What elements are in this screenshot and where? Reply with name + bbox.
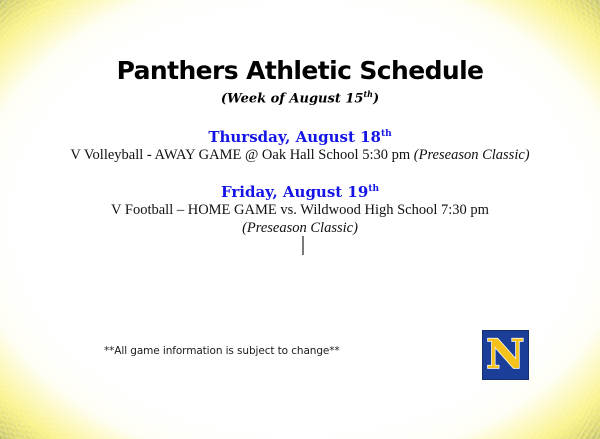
athletic-schedule-flyer: Panthers Athletic Schedule (Week of Augu… (0, 0, 600, 439)
school-crest-logo: N (482, 330, 529, 380)
event-date-text: Friday, August 19 (221, 183, 368, 201)
event-detail-thursday: V Volleyball - AWAY GAME @ Oak Hall Scho… (0, 146, 600, 164)
event-date-heading-friday: Friday, August 19th (0, 183, 600, 201)
disclaimer-note: **All game information is subject to cha… (104, 345, 340, 357)
event-detail-note: (Preseason Classic) (414, 147, 530, 163)
event-date-ordinal: th (381, 129, 392, 139)
event-date-text: Thursday, August 18 (208, 128, 381, 146)
week-subtitle: (Week of August 15th) (0, 89, 600, 106)
page-title: Panthers Athletic Schedule (0, 56, 600, 85)
event-date-ordinal: th (368, 184, 379, 194)
event-detail-friday: V Football – HOME GAME vs. Wildwood High… (0, 201, 600, 219)
event-detail-main: V Volleyball - AWAY GAME @ Oak Hall Scho… (70, 147, 413, 163)
logo-letter-n: N (486, 337, 524, 373)
event-block-friday: Friday, August 19th V Football – HOME GA… (0, 183, 600, 237)
text-cursor-caret (302, 236, 304, 255)
flyer-content: Panthers Athletic Schedule (Week of Augu… (0, 0, 600, 439)
week-subtitle-ordinal: th (363, 89, 373, 99)
event-date-heading-thursday: Thursday, August 18th (0, 128, 600, 146)
week-subtitle-suffix: ) (373, 91, 379, 106)
event-block-thursday: Thursday, August 18th V Volleyball - AWA… (0, 128, 600, 164)
event-detail-main: V Football – HOME GAME vs. Wildwood High… (111, 202, 489, 218)
event-detail-note-friday: (Preseason Classic) (0, 219, 600, 237)
week-subtitle-prefix: (Week of August 15 (221, 91, 364, 106)
